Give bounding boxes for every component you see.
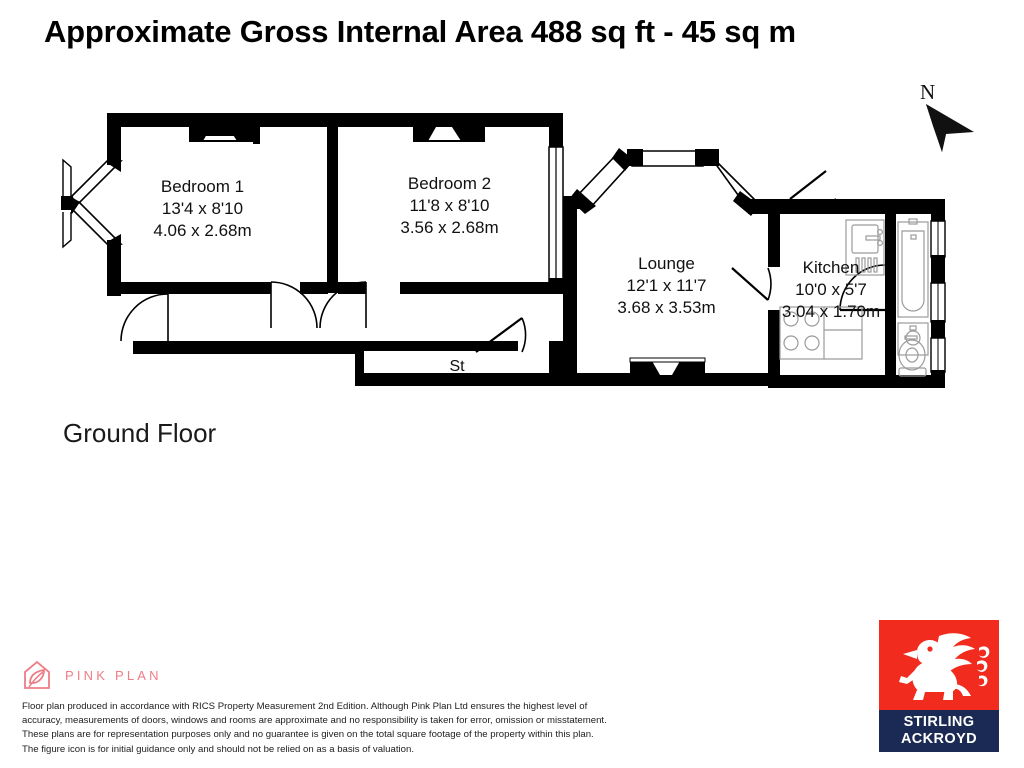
fixture-group (780, 219, 928, 376)
griffin-icon (887, 626, 991, 706)
washbasin-icon (898, 323, 928, 355)
house-leaf-icon (22, 659, 52, 691)
bathtub-icon (898, 219, 928, 317)
compass: N (912, 82, 992, 162)
agent-logo-navy-panel: STIRLING ACKROYD (879, 710, 999, 752)
wall-group (58, 113, 945, 388)
pink-plan-label: PINK PLAN (65, 668, 162, 683)
floor-level-label: Ground Floor (63, 418, 216, 449)
agent-name-line-1: STIRLING (904, 714, 975, 731)
agent-name-line-2: ACKROYD (901, 731, 977, 748)
floorplan-page: Approximate Gross Internal Area 488 sq f… (0, 0, 1024, 768)
agent-logo: STIRLING ACKROYD (879, 620, 999, 752)
pink-plan-logo: PINK PLAN (22, 659, 162, 691)
kitchen-hob-icon (780, 307, 862, 359)
kitchen-sink-icon (846, 220, 884, 275)
compass-north-label: N (920, 80, 935, 105)
disclaimer-text: Floor plan produced in accordance with R… (22, 700, 607, 757)
floorplan-drawing (0, 0, 1024, 768)
